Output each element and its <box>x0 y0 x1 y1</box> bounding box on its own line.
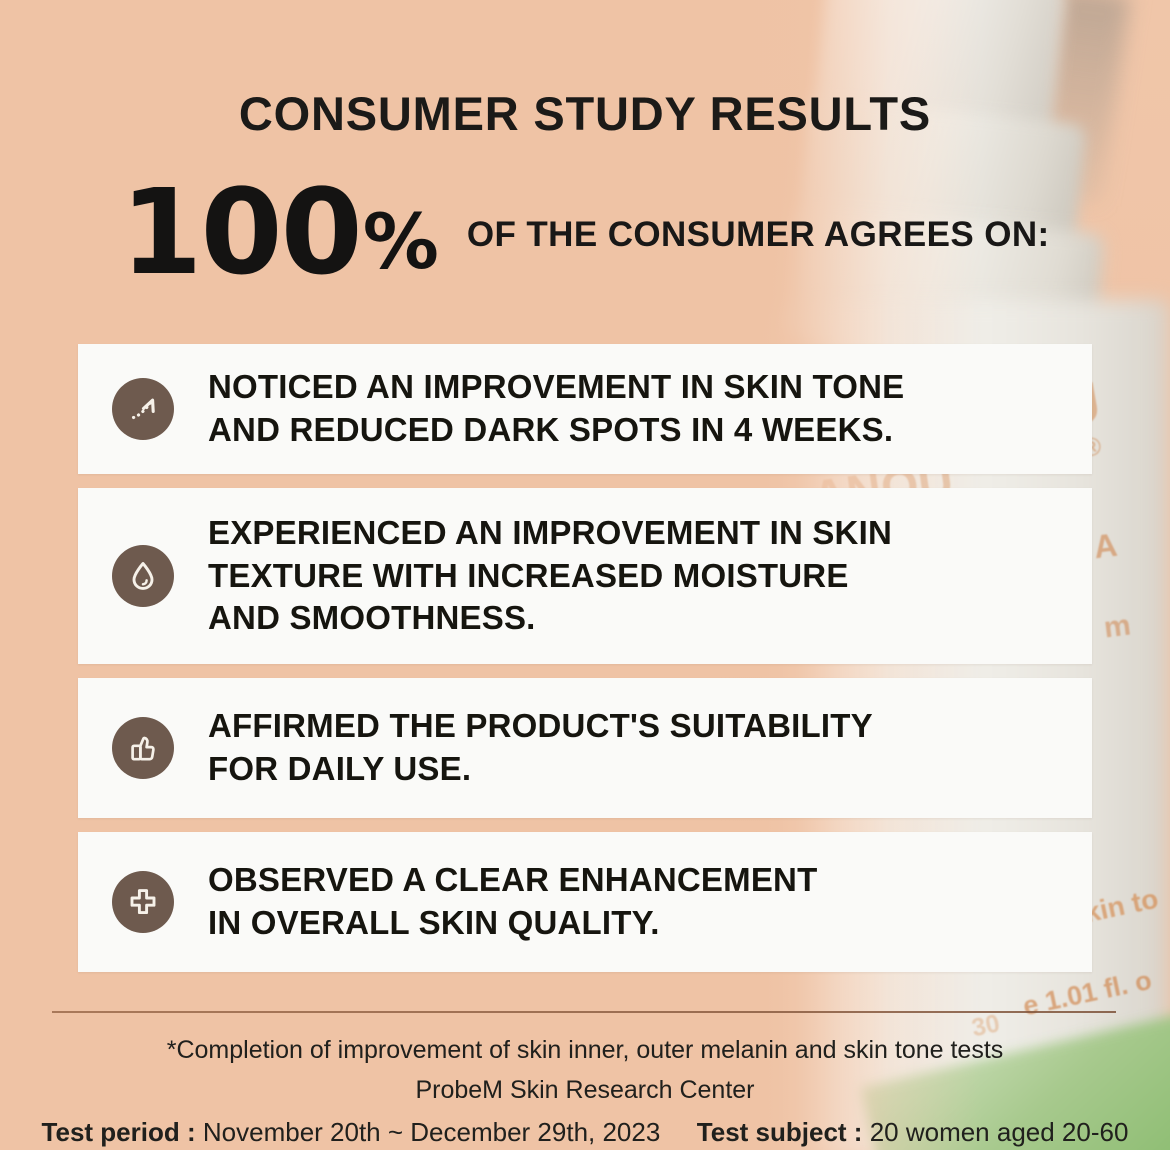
footer-divider <box>52 1011 1116 1013</box>
test-subject-label: Test subject : <box>697 1117 863 1147</box>
medical-cross-icon <box>112 871 174 933</box>
claim-line-2: AND REDUCED DARK SPOTS IN 4 WEEKS. <box>208 409 1064 452</box>
claim-line-1: NOTICED AN IMPROVEMENT IN SKIN TONE <box>208 366 1064 409</box>
claim-line-1: EXPERIENCED AN IMPROVEMENT IN SKIN <box>208 512 1064 555</box>
stat-caption: OF THE CONSUMER AGREES ON: <box>467 212 1050 258</box>
claims-list: NOTICED AN IMPROVEMENT IN SKIN TONE AND … <box>78 344 1092 986</box>
claim-line-2: TEXTURE WITH INCREASED MOISTURE <box>208 555 1064 598</box>
headline-statistic: 100 % OF THE CONSUMER AGREES ON: <box>0 178 1170 287</box>
claim-line-2: FOR DAILY USE. <box>208 748 1064 791</box>
footnote: *Completion of improvement of skin inner… <box>0 1030 1170 1150</box>
claim-text: NOTICED AN IMPROVEMENT IN SKIN TONE AND … <box>208 366 1092 452</box>
page-title: CONSUMER STUDY RESULTS <box>0 86 1170 141</box>
test-period-label: Test period : <box>42 1117 196 1147</box>
claim-line-2: IN OVERALL SKIN QUALITY. <box>208 902 1064 945</box>
footnote-line-1: *Completion of improvement of skin inner… <box>0 1030 1170 1070</box>
claim-card: OBSERVED A CLEAR ENHANCEMENT IN OVERALL … <box>78 832 1092 972</box>
claim-line-3: AND SMOOTHNESS. <box>208 597 1064 640</box>
test-period-value: November 20th ~ December 29th, 2023 <box>203 1117 660 1147</box>
claim-text: AFFIRMED THE PRODUCT'S SUITABILITY FOR D… <box>208 705 1092 791</box>
thumbs-up-icon <box>112 717 174 779</box>
consumer-study-results-poster: U ® ANOU A m kin to e 1.01 fl. o 30 CONS… <box>0 0 1170 1150</box>
footnote-line-3: Test period : November 20th ~ December 2… <box>0 1112 1170 1150</box>
test-subject-value: 20 women aged 20-60 <box>870 1117 1129 1147</box>
claim-card: EXPERIENCED AN IMPROVEMENT IN SKIN TEXTU… <box>78 488 1092 664</box>
stat-caption-line-2: AGREES ON: <box>824 215 1050 254</box>
claim-text: EXPERIENCED AN IMPROVEMENT IN SKIN TEXTU… <box>208 512 1092 641</box>
claim-line-1: AFFIRMED THE PRODUCT'S SUITABILITY <box>208 705 1064 748</box>
stat-caption-line-1: OF THE CONSUMER <box>467 215 815 254</box>
trending-up-arrow-icon <box>112 378 174 440</box>
percent-sign: % <box>363 204 439 280</box>
claim-text: OBSERVED A CLEAR ENHANCEMENT IN OVERALL … <box>208 859 1092 945</box>
claim-icon-wrap <box>78 545 208 607</box>
claim-line-1: OBSERVED A CLEAR ENHANCEMENT <box>208 859 1064 902</box>
claim-card: NOTICED AN IMPROVEMENT IN SKIN TONE AND … <box>78 344 1092 474</box>
footnote-line-2: ProbeM Skin Research Center <box>0 1070 1170 1110</box>
water-droplet-icon <box>112 545 174 607</box>
claim-icon-wrap <box>78 378 208 440</box>
claim-icon-wrap <box>78 871 208 933</box>
claim-card: AFFIRMED THE PRODUCT'S SUITABILITY FOR D… <box>78 678 1092 818</box>
claim-icon-wrap <box>78 717 208 779</box>
stat-number: 100 <box>120 178 360 287</box>
